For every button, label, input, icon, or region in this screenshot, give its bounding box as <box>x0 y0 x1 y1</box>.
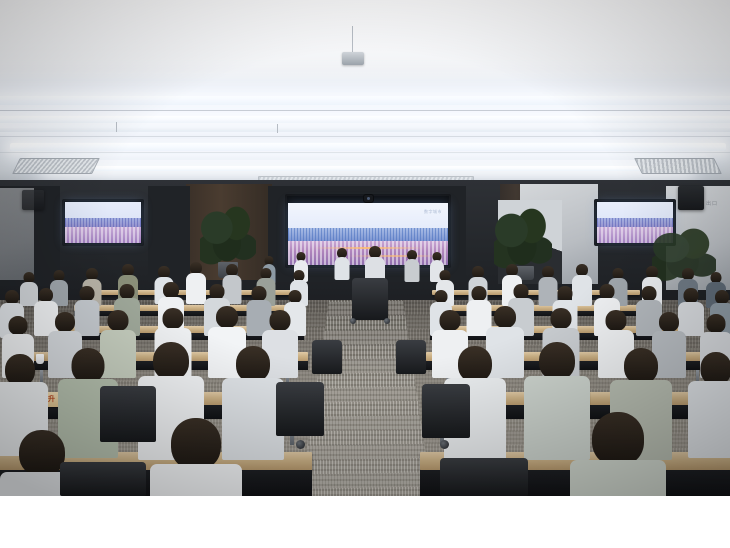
air-vent <box>12 158 100 174</box>
conference-chair[interactable] <box>352 278 388 320</box>
wall-speaker-left <box>22 190 44 210</box>
conference-chair[interactable] <box>312 340 342 374</box>
ceiling-light-strip <box>10 143 726 151</box>
projector-hanger <box>277 124 278 133</box>
video-conference-camera <box>363 194 374 203</box>
ceiling-light-strip <box>30 156 706 160</box>
exit-sign: 出口 <box>706 200 718 207</box>
ceiling-light-strip <box>0 96 730 105</box>
attendee <box>570 412 666 496</box>
attendee <box>404 250 419 282</box>
ceiling-light-strip <box>0 116 730 123</box>
conference-chair[interactable] <box>422 384 470 438</box>
attendee <box>688 352 730 458</box>
conference-chair[interactable] <box>100 386 156 442</box>
attendee <box>186 262 206 304</box>
conference-chair[interactable] <box>396 340 426 374</box>
attendee <box>150 418 242 496</box>
ceiling-projector <box>342 52 364 65</box>
ceiling-light-strip <box>45 166 690 171</box>
attendee <box>334 248 349 280</box>
conference-room-photo: 数字城市 出口 <box>0 0 730 496</box>
screenshot-root: 数字城市 出口 <box>0 0 730 548</box>
left-led-screen[interactable] <box>65 202 141 243</box>
conference-chair[interactable] <box>440 458 528 496</box>
air-vent <box>634 158 722 174</box>
letterbox-bottom <box>0 496 730 548</box>
conference-chair[interactable] <box>276 382 324 436</box>
projector-hanger <box>116 122 117 132</box>
potted-plant-right <box>494 208 552 272</box>
potted-plant-left <box>200 206 256 268</box>
ceiling <box>0 0 730 185</box>
wall-speaker-right <box>678 186 704 210</box>
ceiling-light-strip <box>0 128 730 132</box>
projector-hanger <box>352 26 353 54</box>
conference-chair[interactable] <box>60 462 146 496</box>
screen-logo-text: 数字城市 <box>424 209 442 215</box>
